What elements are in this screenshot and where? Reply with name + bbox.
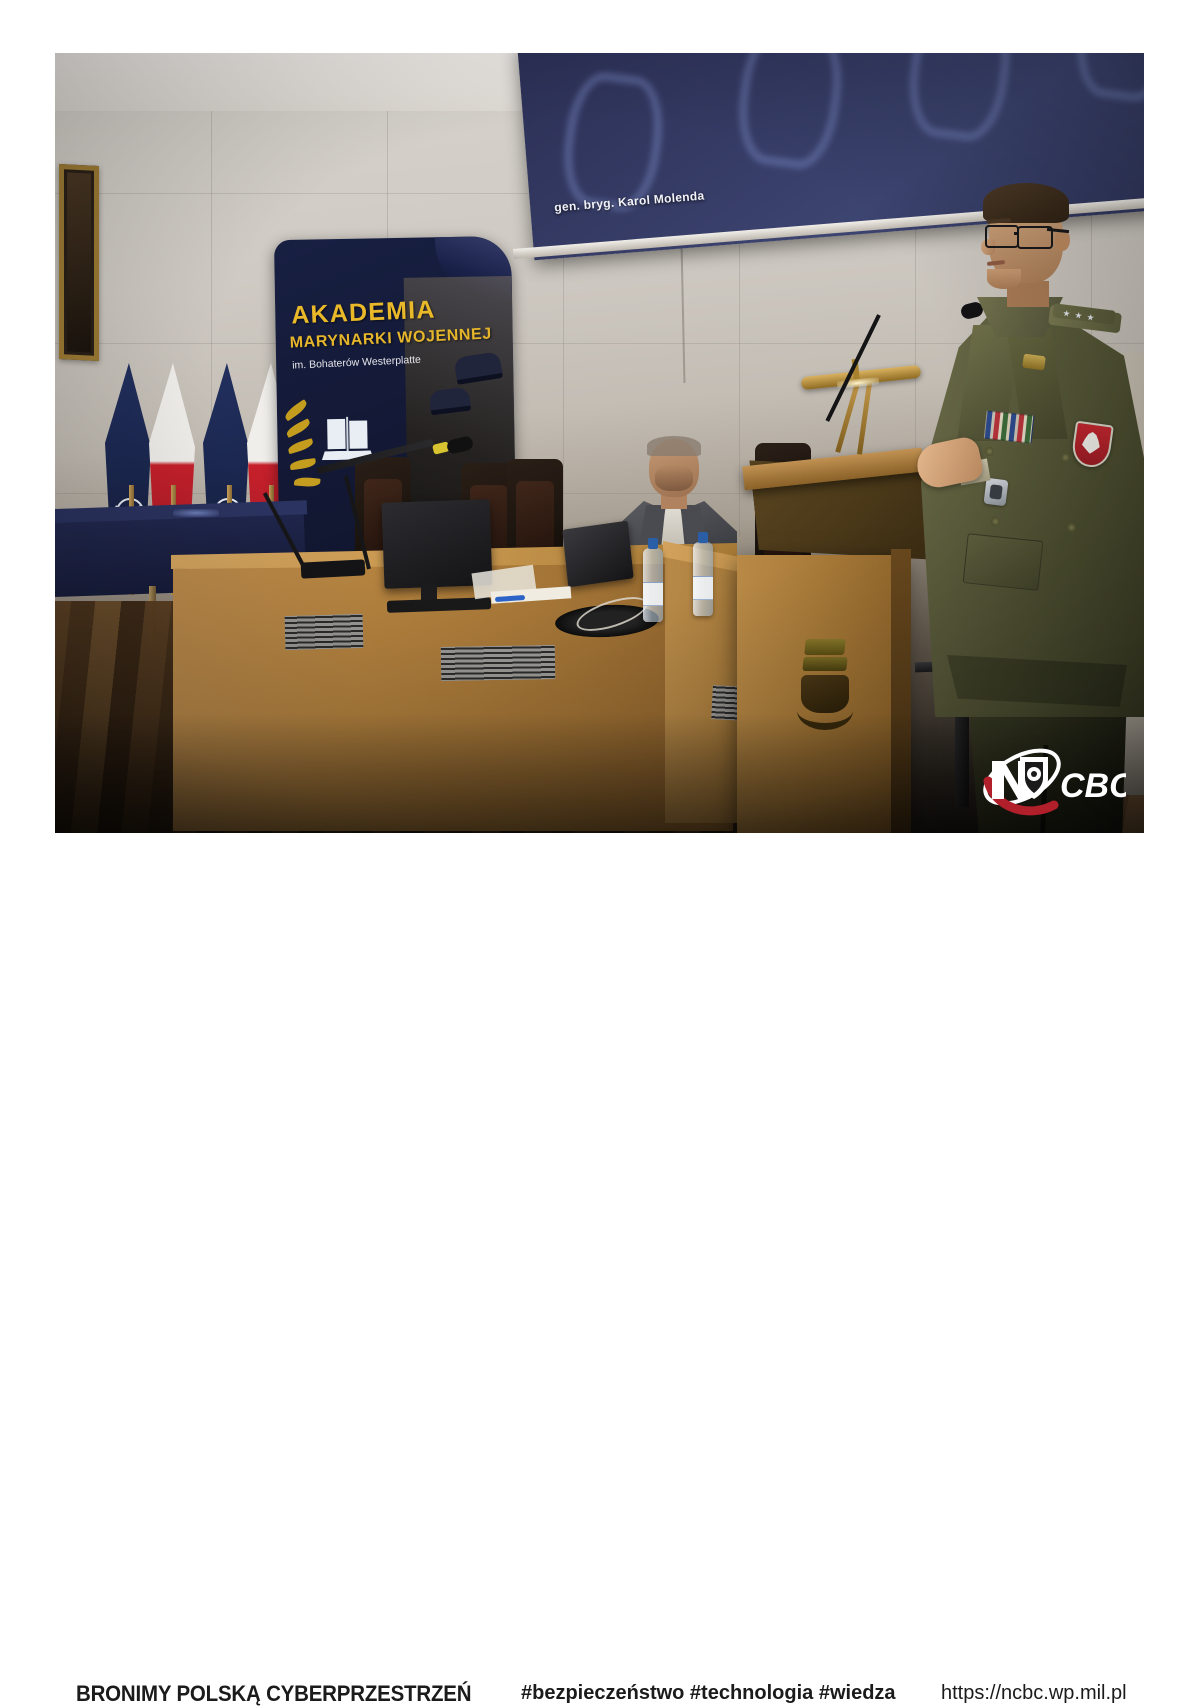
framed-portrait <box>59 164 99 361</box>
bottle-label <box>693 576 713 600</box>
crest-wreath <box>797 691 853 730</box>
microphone-base <box>301 559 366 578</box>
desk-vent-grille <box>437 641 560 685</box>
banner-laurel-wreath <box>283 399 339 510</box>
caption-bar: BRONIMY POLSKĄ CYBERPRZESTRZEŃ #bezpiecz… <box>0 836 1200 900</box>
uniform-button <box>1067 523 1076 532</box>
eyeglasses-icon <box>985 225 1019 248</box>
side-table-object <box>173 509 219 517</box>
screenshot-root: gen. bryg. Karol Molenda <box>0 0 1200 900</box>
laptop-screen <box>562 521 633 588</box>
ship-sail <box>349 420 367 448</box>
speaker-chin <box>987 269 1021 289</box>
water-bottle <box>643 548 663 622</box>
uniform-pocket <box>963 533 1044 591</box>
speaker-hair <box>983 183 1069 223</box>
caption-hashtags: #bezpieczeństwo #technologia #wiedza <box>521 1682 896 1705</box>
caption-slogan: BRONIMY POLSKĄ CYBERPRZESTRZEŃ <box>76 1681 471 1707</box>
desk-vent-grille <box>280 610 367 654</box>
slide-ring-icon <box>1070 53 1144 106</box>
uniform-button <box>985 447 994 456</box>
ncbc-logo: CBC <box>976 735 1126 823</box>
crest-sail <box>804 639 846 655</box>
eyeglasses-bridge <box>1014 232 1019 235</box>
slide-ring-icon <box>902 53 1017 145</box>
cadet-cap-icon <box>453 351 503 385</box>
participant-hair <box>647 436 701 456</box>
conference-photo: gen. bryg. Karol Molenda <box>55 53 1144 833</box>
logo-wordmark: CBC <box>1060 767 1126 805</box>
participant-face-shading <box>655 465 693 491</box>
caption-url[interactable]: https://ncbc.wp.mil.pl <box>941 1682 1127 1705</box>
water-bottle <box>693 542 713 616</box>
chest-badge <box>983 478 1008 506</box>
logo-shield-pupil <box>1031 771 1037 777</box>
collar-insignia <box>1022 354 1046 371</box>
cadet-cap-icon <box>429 387 472 416</box>
banner-title-line1: AKADEMIA <box>291 296 436 331</box>
crest-sail <box>802 657 847 671</box>
banner-subtitle: im. Bohaterów Westerplatte <box>292 354 421 372</box>
slide-ring-icon <box>731 53 848 173</box>
bottle-label <box>643 582 663 606</box>
uniform-button <box>991 517 1000 526</box>
naval-academy-crest <box>797 635 853 723</box>
uniform-button <box>1061 453 1070 462</box>
medal-ribbon-bar <box>984 411 1035 444</box>
